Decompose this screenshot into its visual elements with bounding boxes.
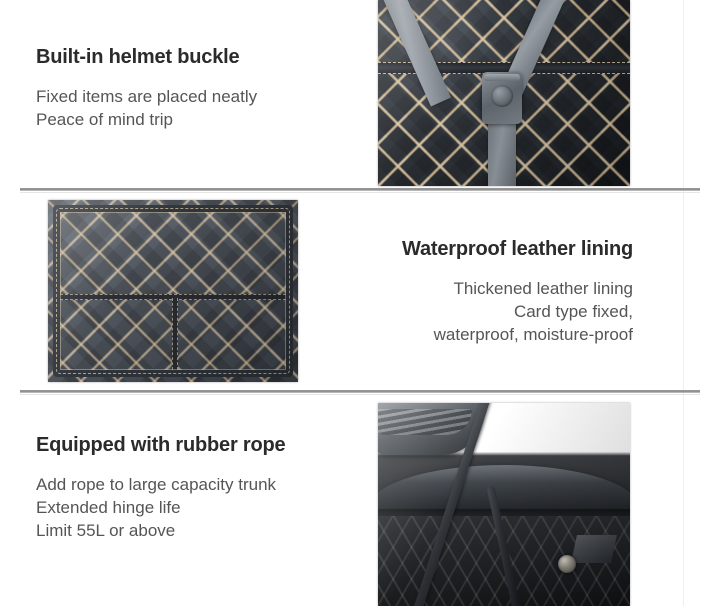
photo-sheen-overlay <box>378 0 630 186</box>
section-rubber-rope-text: Equipped with rubber rope Add rope to la… <box>36 434 285 542</box>
section-waterproof-lining-text: Waterproof leather lining Thickened leat… <box>402 238 633 346</box>
page-right-edge <box>683 0 684 606</box>
section-rubber-rope-line-2: Extended hinge life <box>36 496 285 519</box>
section-rubber-rope-line-1: Add rope to large capacity trunk <box>36 473 285 496</box>
section-waterproof-lining-line-1: Thickened leather lining <box>402 277 633 300</box>
section-waterproof-lining-line-3: waterproof, moisture-proof <box>402 323 633 346</box>
section-rubber-rope-line-3: Limit 55L or above <box>36 519 285 542</box>
photo-sheen-overlay <box>48 200 298 382</box>
section-divider-2 <box>20 390 700 393</box>
section-helmet-buckle-heading: Built-in helmet buckle <box>36 46 257 69</box>
section-waterproof-lining-heading: Waterproof leather lining <box>402 238 633 261</box>
photo-sheen-overlay <box>378 403 630 606</box>
quilted-leather-with-helmet-strap-photo <box>378 0 630 186</box>
product-feature-page: Built-in helmet buckle Fixed items are p… <box>0 0 718 606</box>
open-trunk-with-rubber-rope-photo <box>378 403 630 606</box>
section-waterproof-lining-line-2: Card type fixed, <box>402 300 633 323</box>
quilted-leather-liner-panel-photo <box>48 200 298 382</box>
section-divider-1 <box>20 188 700 191</box>
section-helmet-buckle-line-1: Fixed items are placed neatly <box>36 85 257 108</box>
section-rubber-rope-heading: Equipped with rubber rope <box>36 434 285 457</box>
section-helmet-buckle-line-2: Peace of mind trip <box>36 108 257 131</box>
section-helmet-buckle-text: Built-in helmet buckle Fixed items are p… <box>36 46 257 131</box>
